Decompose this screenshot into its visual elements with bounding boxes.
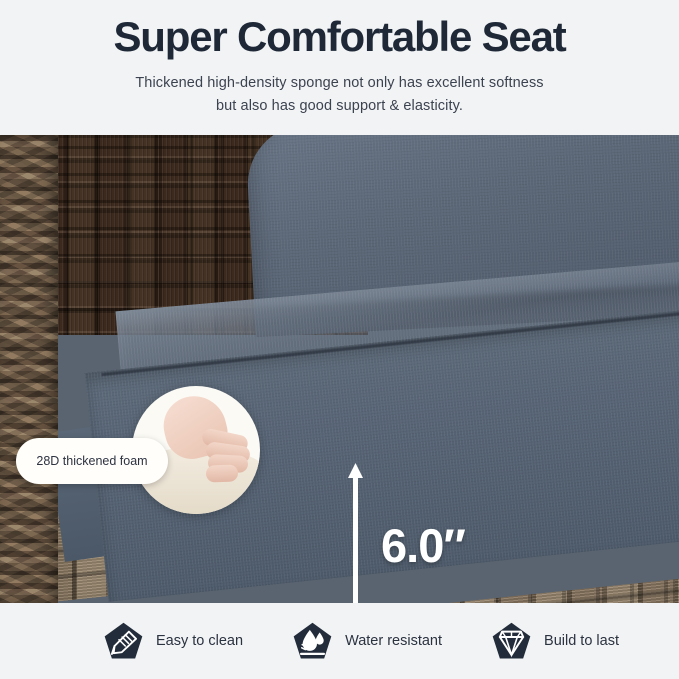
subtitle-line-1: Thickened high-density sponge not only h… bbox=[135, 72, 543, 94]
page-title: Super Comfortable Seat bbox=[113, 14, 565, 60]
hand-finger bbox=[206, 464, 239, 482]
feature-label: Build to last bbox=[544, 633, 619, 649]
subtitle-line-2: but also has good support & elasticity. bbox=[135, 95, 543, 117]
feature-label: Water resistant bbox=[345, 633, 442, 649]
hand-pressing-foam-icon bbox=[156, 392, 260, 476]
product-feature-card: Super Comfortable Seat Thickened high-de… bbox=[0, 0, 679, 679]
cleaning-cloth-icon bbox=[102, 620, 145, 663]
feature-easy-to-clean: Easy to clean bbox=[102, 620, 243, 663]
page-subtitle: Thickened high-density sponge not only h… bbox=[135, 72, 543, 117]
product-photo: 28D thickened foam 6.0″ bbox=[0, 135, 679, 603]
header-section: Super Comfortable Seat Thickened high-de… bbox=[0, 0, 679, 135]
wicker-arm-frame-left bbox=[0, 135, 58, 603]
feature-build-to-last: Build to last bbox=[490, 620, 619, 663]
feature-label: Easy to clean bbox=[156, 633, 243, 649]
diamond-icon bbox=[490, 620, 533, 663]
water-drop-icon bbox=[291, 620, 334, 663]
feature-bar: Easy to clean Water resistant Build to l… bbox=[0, 603, 679, 679]
double-headed-vertical-arrow-icon bbox=[347, 463, 364, 603]
foam-callout-label: 28D thickened foam bbox=[16, 438, 168, 484]
wicker-base-right bbox=[430, 578, 679, 603]
dimension-value: 6.0″ bbox=[381, 518, 465, 573]
feature-water-resistant: Water resistant bbox=[291, 620, 442, 663]
